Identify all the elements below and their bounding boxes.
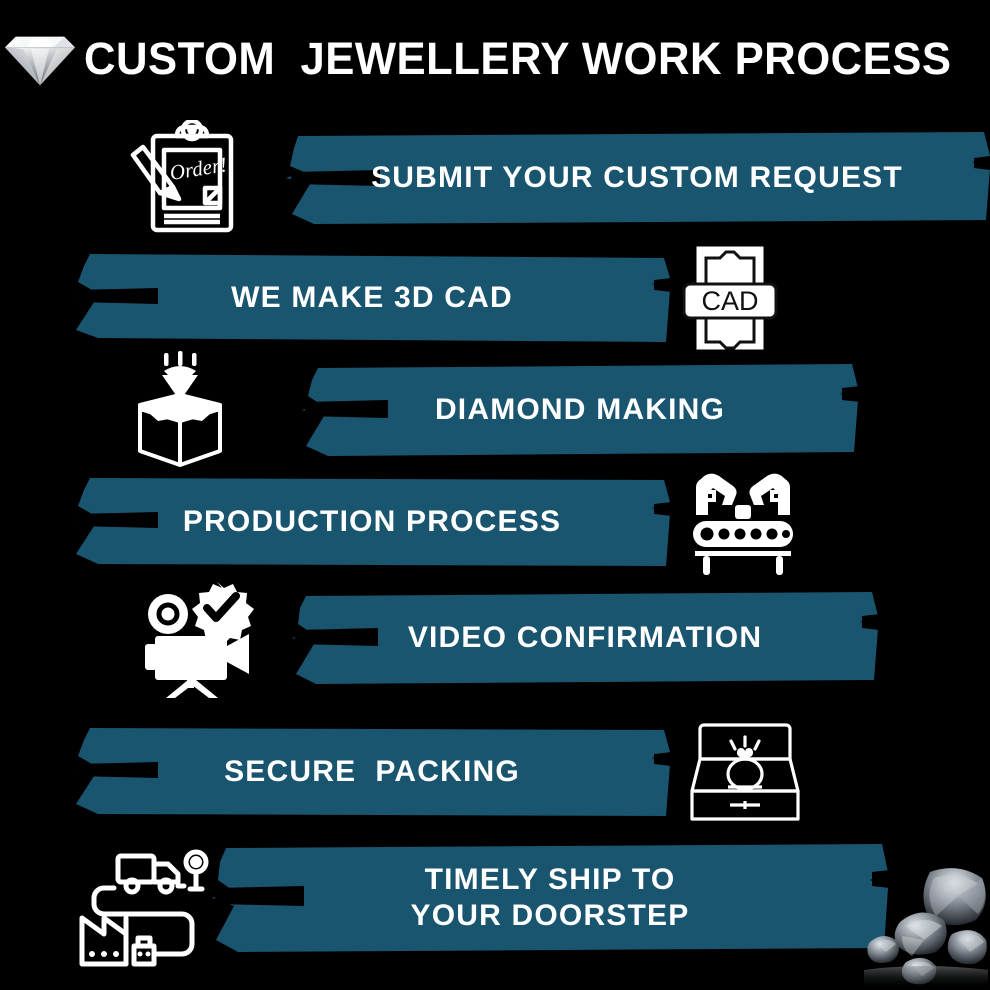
step-row-2: WE MAKE 3D CAD CAD	[0, 238, 990, 358]
infographic-canvas: CUSTOM JEWELLERY WORK PROCESS	[0, 0, 990, 990]
step-row-7: TIMELY SHIP TO YOUR DOORSTEP	[0, 836, 990, 976]
step-label-5: VIDEO CONFIRMATION	[290, 588, 880, 688]
diamond-icon	[2, 29, 78, 87]
step-banner-1[interactable]: SUBMIT YOUR CUSTOM REQUEST	[284, 128, 990, 228]
step-row-6: SECURE PACKING	[0, 712, 990, 832]
step-label-3: DIAMOND MAKING	[300, 360, 860, 460]
video-camera-check-icon	[140, 578, 270, 698]
clipboard-order-icon: Order!	[120, 118, 250, 238]
step-label-7: TIMELY SHIP TO YOUR DOORSTEP	[210, 840, 890, 956]
step-banner-5[interactable]: VIDEO CONFIRMATION	[290, 588, 880, 688]
step-row-1: Order! SUBMIT YOUR CUSTOM REQUEST	[0, 118, 990, 238]
step-label-4: PRODUCTION PROCESS	[72, 472, 672, 572]
step-label-1: SUBMIT YOUR CUSTOM REQUEST	[284, 128, 990, 228]
step-banner-7[interactable]: TIMELY SHIP TO YOUR DOORSTEP	[210, 840, 890, 956]
cad-icon-text: CAD	[701, 286, 758, 316]
conveyor-robot-arms-icon	[678, 462, 808, 582]
step-label-2: WE MAKE 3D CAD	[72, 248, 672, 348]
step-banner-4[interactable]: PRODUCTION PROCESS	[72, 472, 672, 572]
step-banner-2[interactable]: WE MAKE 3D CAD	[72, 248, 672, 348]
step-banner-6[interactable]: SECURE PACKING	[72, 722, 672, 822]
step-row-5: VIDEO CONFIRMATION	[0, 578, 990, 698]
diamond-in-box-icon	[115, 350, 245, 470]
page-title: CUSTOM JEWELLERY WORK PROCESS	[84, 36, 951, 81]
cad-document-icon: CAD	[665, 238, 795, 358]
ring-box-icon	[680, 712, 810, 832]
header: CUSTOM JEWELLERY WORK PROCESS	[0, 22, 990, 94]
step-row-4: PRODUCTION PROCESS	[0, 462, 990, 582]
step-row-3: DIAMOND MAKING	[0, 350, 990, 470]
step-label-6: SECURE PACKING	[72, 722, 672, 822]
factory-truck-route-icon	[70, 836, 220, 976]
step-banner-3[interactable]: DIAMOND MAKING	[300, 360, 860, 460]
